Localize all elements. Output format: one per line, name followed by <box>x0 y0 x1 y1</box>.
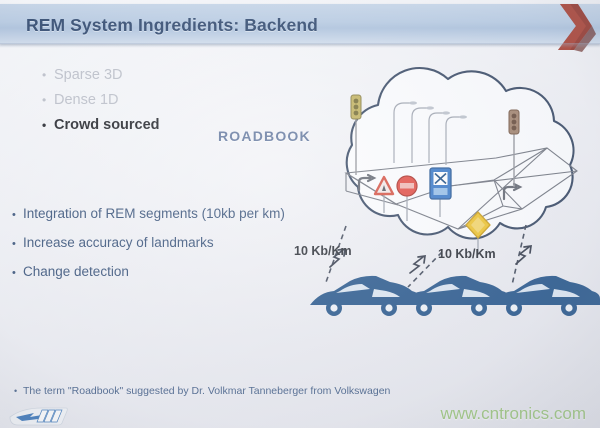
bullet-dot-icon: • <box>12 202 23 229</box>
main-bullet-accuracy: •Increase accuracy of landmarks <box>12 229 285 258</box>
main-bullet-label: Increase accuracy of landmarks <box>23 235 214 250</box>
main-bullet-list: •Integration of REM segments (10kb per k… <box>12 200 285 287</box>
main-bullet-integration: •Integration of REM segments (10kb per k… <box>12 200 285 229</box>
sub-bullet-label: Sparse 3D <box>54 67 123 83</box>
sub-bullet-dense-1d: •Dense 1D <box>42 88 160 113</box>
footnote: •The term "Roadbook" suggested by Dr. Vo… <box>14 385 390 397</box>
main-bullet-change-detection: •Change detection <box>12 258 285 287</box>
car-icon-2 <box>400 276 510 316</box>
footnote-label: The term "Roadbook" suggested by Dr. Vol… <box>23 385 390 397</box>
sub-bullet-label: Dense 1D <box>54 92 118 108</box>
corner-ribbon-icon <box>530 4 600 52</box>
uplink-bolt-arrow-icon <box>330 246 531 273</box>
mobileye-wing-logo <box>8 406 70 426</box>
bullet-dot-icon: • <box>14 386 23 396</box>
page-title: REM System Ingredients: Backend <box>26 15 318 36</box>
main-bullet-label: Integration of REM segments (10kb per km… <box>23 206 285 221</box>
sub-bullet-crowd-sourced: •Crowd sourced <box>42 113 160 138</box>
sub-bullet-list: •Sparse 3D •Dense 1D •Crowd sourced <box>42 63 160 138</box>
main-bullet-label: Change detection <box>23 264 129 279</box>
car-icon-3 <box>490 276 600 316</box>
car-icon-1 <box>310 276 420 316</box>
cloud-diagram: 10 Kb/Km 10 Kb/Km <box>290 55 600 325</box>
bullet-dot-icon: • <box>42 113 54 138</box>
uplink-label-right: 10 Kb/Km <box>438 247 496 261</box>
bullet-dot-icon: • <box>42 88 54 113</box>
bullet-dot-icon: • <box>12 231 23 258</box>
cloud-shape-icon <box>347 68 574 238</box>
bullet-dot-icon: • <box>42 63 54 88</box>
watermark: www.cntronics.com <box>441 404 586 424</box>
bullet-dot-icon: • <box>12 260 23 287</box>
slide-canvas: REM System Ingredients: Backend •Sparse … <box>0 0 600 428</box>
uplink-label-left: 10 Kb/Km <box>294 244 352 258</box>
sub-bullet-sparse-3d: •Sparse 3D <box>42 63 160 88</box>
slide-title-bar: REM System Ingredients: Backend <box>0 4 600 44</box>
sub-bullet-label: Crowd sourced <box>54 117 160 133</box>
